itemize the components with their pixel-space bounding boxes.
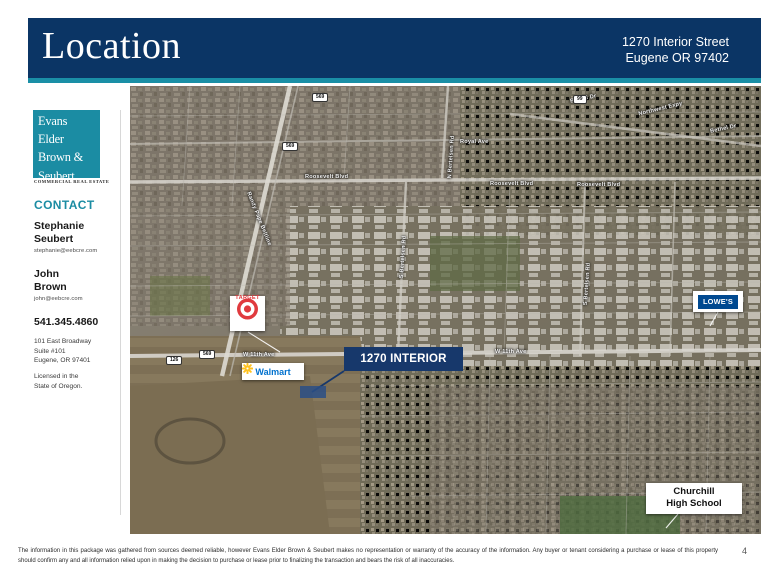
license-note: Licensed in the State of Oregon. [34, 372, 82, 391]
office-address-line-3: Eugene, OR 97401 [34, 356, 91, 366]
callout-lowes[interactable]: LOWE'S [693, 291, 743, 312]
property-address: 1270 Interior Street Eugene OR 97402 [622, 34, 729, 66]
logo-line-2: Elder [33, 128, 100, 146]
highway-shield-569-c: 569 [199, 350, 215, 359]
road-label-w11th-2: W 11th Ave [495, 349, 526, 355]
page-number: 4 [742, 546, 747, 556]
office-address-line-1: 101 East Broadway [34, 337, 91, 347]
callout-target[interactable]: TARGET [230, 296, 265, 331]
callout-subject-property[interactable]: 1270 INTERIOR [344, 347, 463, 371]
road-label-roosevelt-2: Roosevelt Blvd [490, 181, 533, 187]
office-address: 101 East Broadway Suite #101 Eugene, OR … [34, 337, 91, 366]
contact-last-1: Seubert [34, 233, 84, 246]
callout-walmart[interactable]: Walmart [242, 363, 304, 380]
contact-email-2[interactable]: john@eebcre.com [34, 296, 83, 302]
contact-heading: CONTACT [34, 198, 95, 212]
office-address-line-2: Suite #101 [34, 347, 91, 357]
callout-subject-property-label: 1270 INTERIOR [344, 347, 463, 371]
callout-churchill-line-1: Churchill [646, 483, 742, 498]
logo-line-3: Brown & [33, 146, 100, 164]
address-line-2: Eugene OR 97402 [622, 50, 729, 66]
contact-first-2: John [34, 268, 67, 281]
footer-disclaimer: The information in this package was gath… [18, 546, 718, 566]
contact-email-1[interactable]: stephanie@eebcre.com [34, 248, 97, 254]
logo-tagline: COMMERCIAL REAL ESTATE [34, 179, 109, 184]
target-bullseye-icon [230, 296, 265, 322]
callout-churchill-high-school[interactable]: Churchill High School [646, 483, 742, 514]
highway-shield-126: 126 [166, 356, 182, 365]
company-logo: Evans Elder Brown & Seubert [33, 110, 100, 178]
page-header: Location 1270 Interior Street Eugene OR … [28, 18, 761, 78]
lowes-logo-icon: LOWE'S [697, 294, 739, 310]
contact-name-1: Stephanie Seubert [34, 220, 84, 245]
aerial-imagery [130, 86, 761, 534]
callout-walmart-label: Walmart [255, 367, 290, 377]
aerial-map[interactable]: Roosevelt Blvd Roosevelt Blvd Roosevelt … [130, 86, 761, 534]
license-line-1: Licensed in the [34, 372, 82, 382]
road-label-w11th-1: W 11th Ave [243, 352, 274, 358]
road-label-roosevelt-3: Roosevelt Blvd [577, 182, 620, 188]
walmart-spark-icon [242, 363, 253, 374]
header-accent-bar [28, 78, 761, 83]
page-title: Location [42, 24, 181, 68]
callout-churchill-line-2: High School [646, 498, 742, 510]
contact-first-1: Stephanie [34, 220, 84, 233]
address-line-1: 1270 Interior Street [622, 34, 729, 50]
highway-shield-569-a: 569 [312, 93, 328, 102]
road-label-royal-ave: Royal Ave [460, 139, 488, 145]
license-line-2: State of Oregon. [34, 382, 82, 392]
contact-phone[interactable]: 541.345.4860 [34, 316, 98, 328]
sidebar-divider [120, 110, 121, 515]
logo-line-1: Evans [33, 110, 100, 128]
highway-shield-569-b: 569 [282, 142, 298, 151]
contact-name-2: John Brown [34, 268, 67, 293]
contact-last-2: Brown [34, 281, 67, 294]
callout-lowes-label: LOWE'S [698, 295, 738, 309]
highway-shield-99: 99 [573, 95, 587, 104]
road-label-roosevelt-1: Roosevelt Blvd [305, 174, 348, 180]
